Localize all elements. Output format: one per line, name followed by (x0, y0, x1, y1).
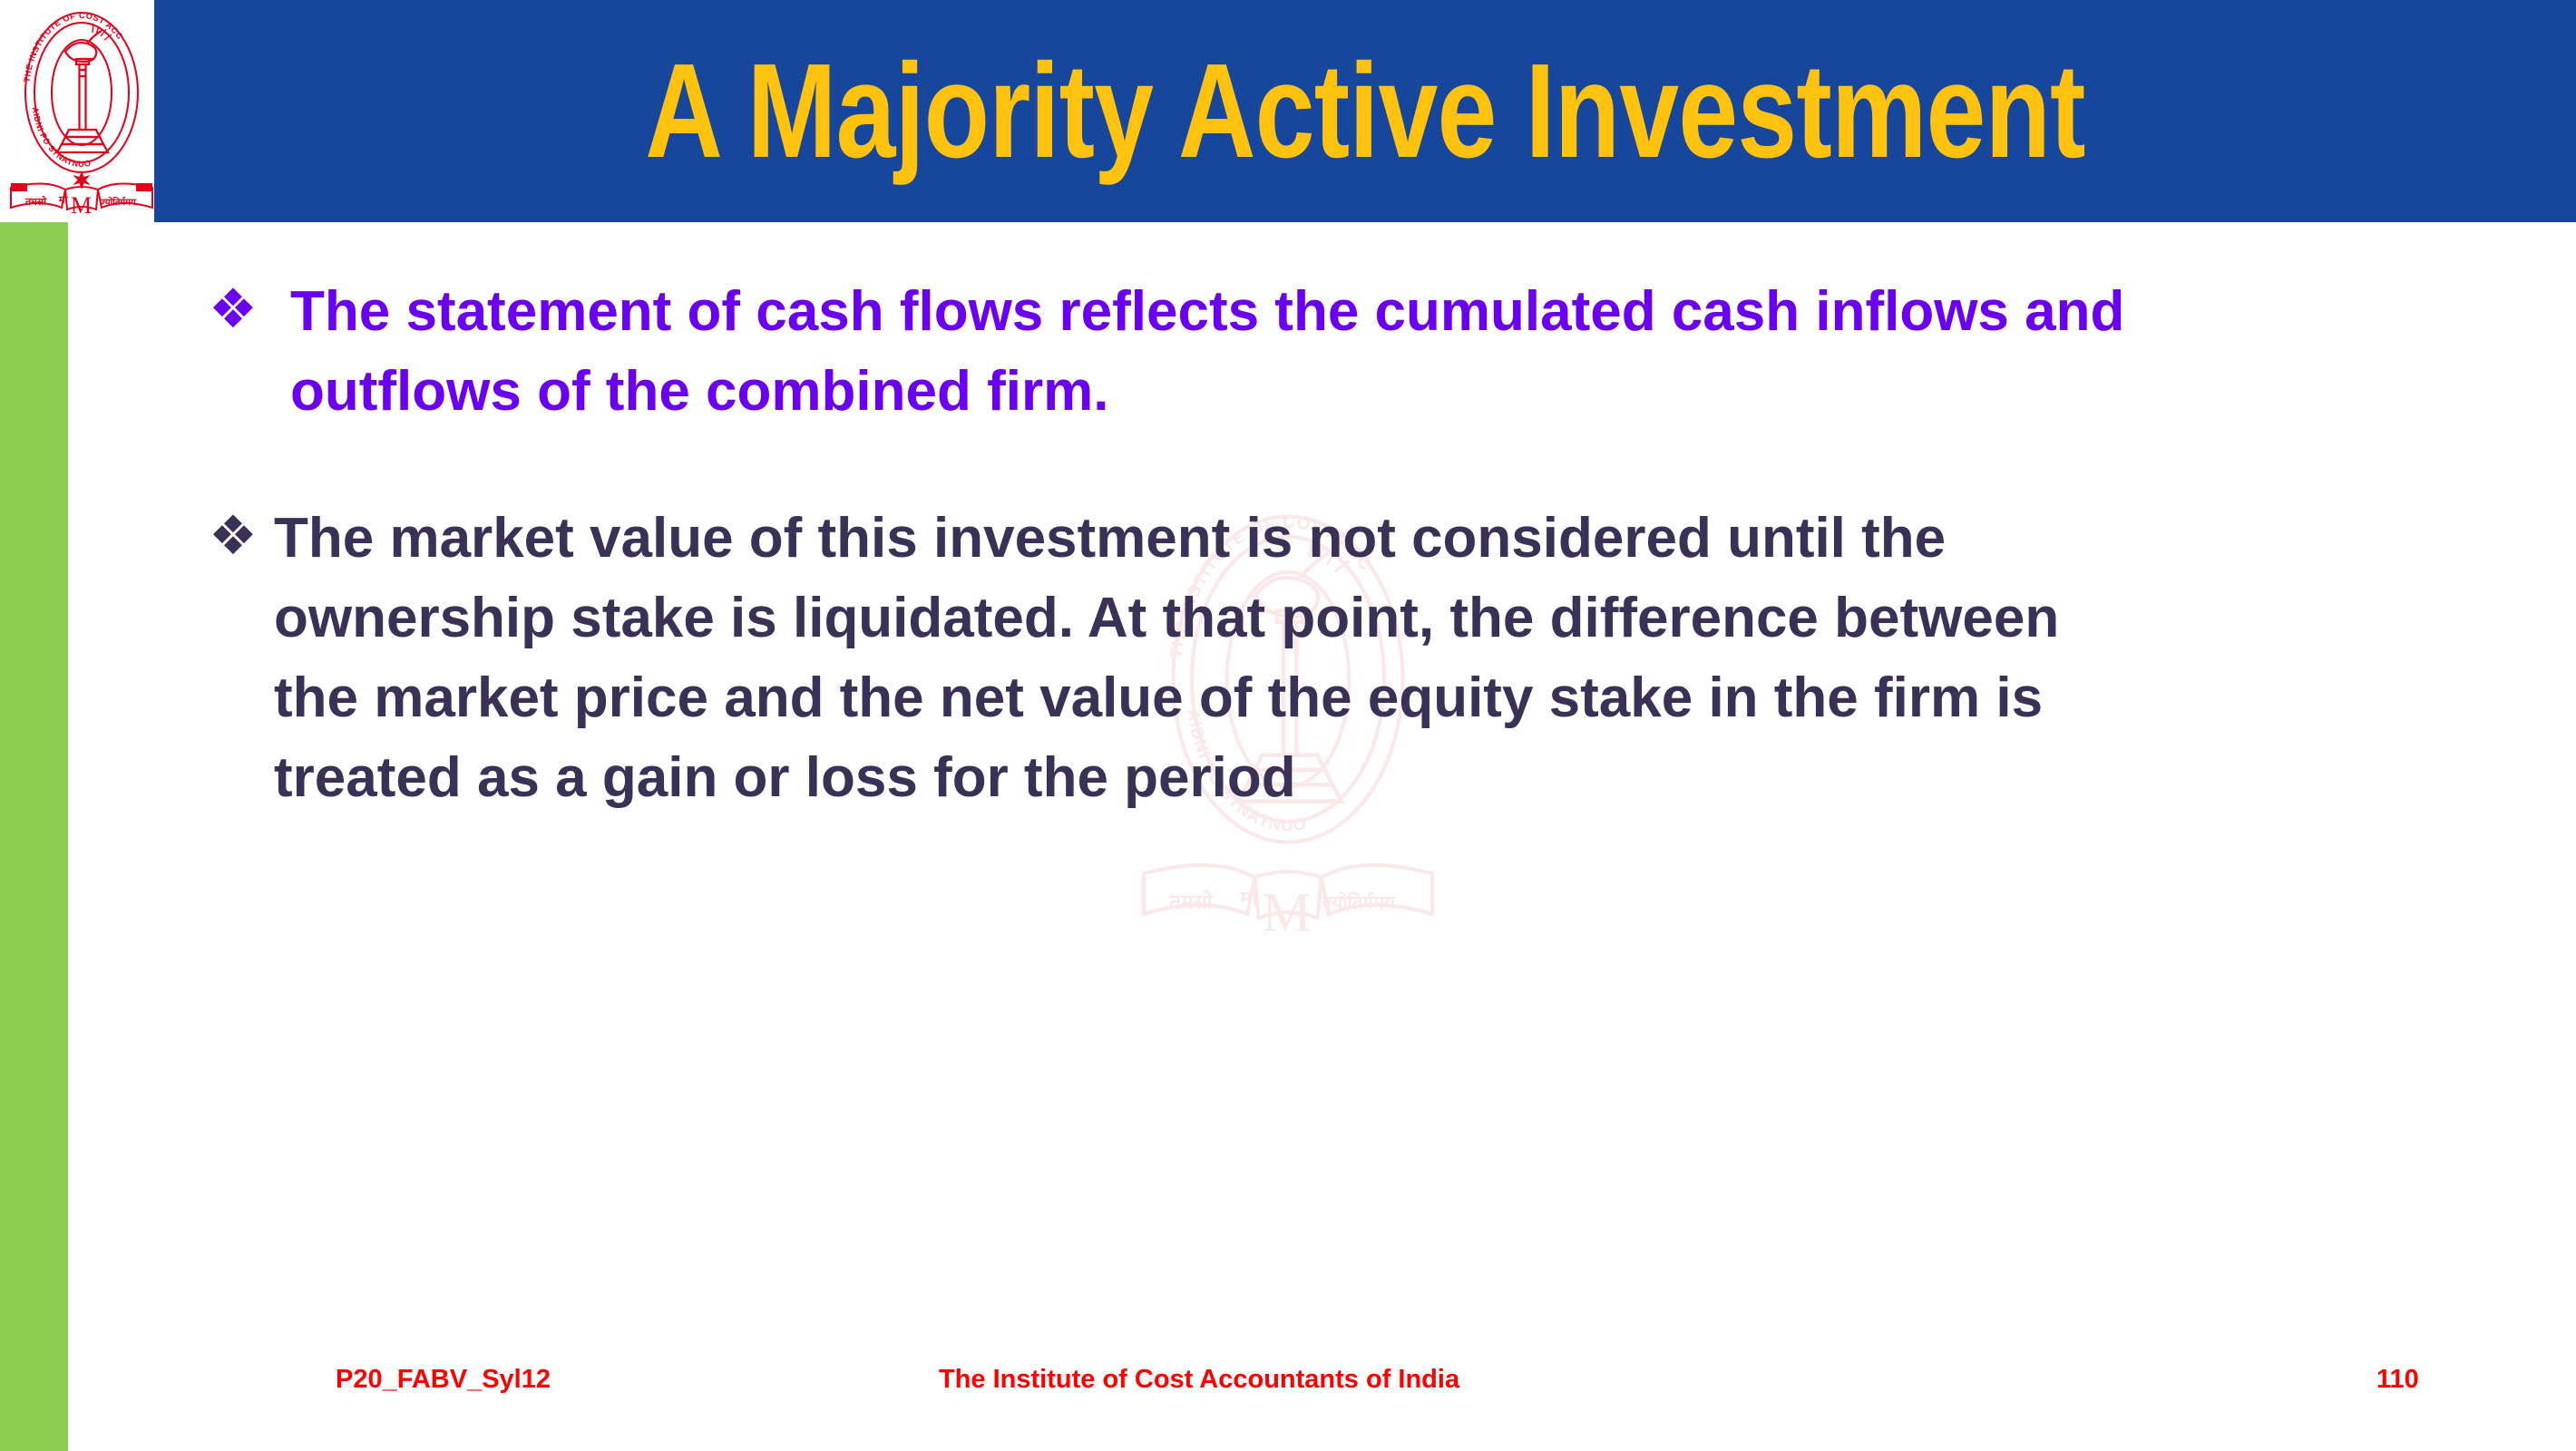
bullet-1-text: The statement of cash flows reflects the… (274, 272, 2476, 432)
bullet-2-text: The market value of this investment is n… (274, 499, 2476, 818)
bullet-2-line-1: The market value of this investment is n… (274, 499, 2476, 579)
svg-text:तमसो: तमसो (1168, 890, 1213, 913)
page-title: A Majority Active Investment (396, 0, 2334, 222)
bullet-item-1: ❖ The statement of cash flows reflects t… (209, 272, 2476, 432)
bullet-2-line-2: ownership stake is liquidated. At that p… (274, 579, 2476, 658)
svg-text:तमसो: तमसो (24, 195, 47, 208)
bullet-1-line-1: The statement of cash flows reflects the… (290, 272, 2476, 352)
svg-text:M: M (71, 192, 92, 219)
diamond-bullet-icon: ❖ (209, 272, 274, 347)
footer: P20_FABV_Syl12 The Institute of Cost Acc… (0, 1365, 2576, 1419)
icai-logo: THE INSTITUTE OF COST ACC AIDNI FO STNAT… (9, 2, 154, 229)
footer-institute-name: The Institute of Cost Accountants of Ind… (939, 1365, 1459, 1395)
diamond-bullet-icon: ❖ (209, 499, 274, 574)
svg-text:मा: मा (58, 195, 69, 206)
left-accent-bar (0, 222, 68, 1451)
bullet-2-line-3: the market price and the net value of th… (274, 658, 2476, 738)
footer-course-code: P20_FABV_Syl12 (336, 1365, 551, 1395)
bullet-2-line-4: treated as a gain or loss for the period (274, 738, 2476, 818)
svg-text:ज्योतिर्गमय: ज्योतिर्गमय (1321, 891, 1396, 913)
bullet-item-2: ❖ The market value of this investment is… (209, 499, 2476, 818)
slide-body: ❖ The statement of cash flows reflects t… (209, 272, 2476, 818)
svg-text:ज्योतिर्गमय: ज्योतिर्गमय (99, 196, 137, 208)
bullet-1-line-2: outflows of the combined firm. (290, 352, 2476, 432)
svg-text:M: M (1262, 881, 1311, 943)
footer-page-number: 110 (2376, 1365, 2419, 1395)
svg-text:मा: मा (1239, 887, 1258, 910)
